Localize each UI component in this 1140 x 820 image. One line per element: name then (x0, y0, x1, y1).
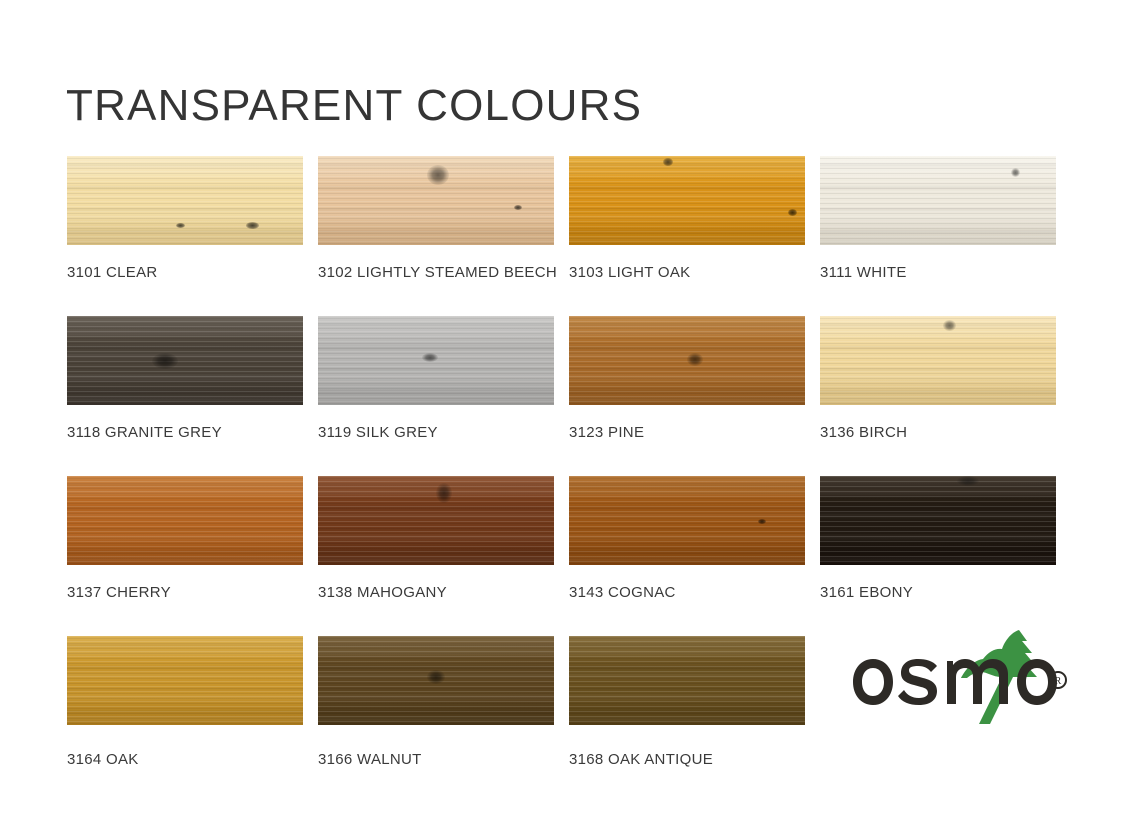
swatch-cell[interactable]: 3143 COGNAC (569, 476, 820, 636)
swatch-cell[interactable]: 3137 CHERRY (67, 476, 318, 636)
swatch-sheen (318, 636, 554, 725)
swatch-sheen (318, 476, 554, 565)
swatch-label: 3164 OAK (67, 751, 303, 768)
swatch-label: 3143 COGNAC (569, 584, 805, 601)
colour-swatch[interactable] (820, 476, 1056, 565)
swatch-sheen (67, 156, 303, 245)
osmo-logo[interactable]: R (851, 628, 1076, 728)
swatch-row: 3118 GRANITE GREY3119 SILK GREY3123 PINE… (67, 316, 1073, 476)
colour-swatch[interactable] (569, 316, 805, 405)
swatch-sheen (67, 476, 303, 565)
page-title: TRANSPARENT COLOURS (66, 81, 642, 131)
colour-swatch[interactable] (318, 476, 554, 565)
swatch-sheen (569, 316, 805, 405)
swatch-cell[interactable]: 3161 EBONY (820, 476, 1071, 636)
swatch-label: 3138 MAHOGANY (318, 584, 554, 601)
swatch-sheen (569, 156, 805, 245)
swatch-row: 3101 CLEAR3102 LIGHTLY STEAMED BEECH3103… (67, 156, 1073, 316)
swatch-label: 3161 EBONY (820, 584, 1056, 601)
osmo-wordmark (853, 659, 1057, 705)
swatch-sheen (820, 316, 1056, 405)
colour-swatch[interactable] (318, 156, 554, 245)
swatch-label: 3123 PINE (569, 424, 805, 441)
swatch-cell[interactable]: 3123 PINE (569, 316, 820, 476)
swatch-cell[interactable]: 3166 WALNUT (318, 636, 569, 796)
swatch-cell[interactable]: 3164 OAK (67, 636, 318, 796)
swatch-sheen (318, 156, 554, 245)
swatch-sheen (569, 636, 805, 725)
swatch-label: 3101 CLEAR (67, 264, 303, 281)
colour-swatch[interactable] (569, 476, 805, 565)
colour-swatch[interactable] (569, 636, 805, 725)
colour-swatch[interactable] (820, 316, 1056, 405)
swatch-cell[interactable]: 3103 LIGHT OAK (569, 156, 820, 316)
swatch-label: 3166 WALNUT (318, 751, 554, 768)
swatch-sheen (67, 636, 303, 725)
swatch-cell[interactable]: 3118 GRANITE GREY (67, 316, 318, 476)
swatch-label: 3102 LIGHTLY STEAMED BEECH (318, 264, 554, 281)
swatch-cell[interactable]: 3136 BIRCH (820, 316, 1071, 476)
swatch-label: 3111 WHITE (820, 264, 1056, 281)
swatch-label: 3137 CHERRY (67, 584, 303, 601)
swatch-cell[interactable]: 3168 OAK ANTIQUE (569, 636, 820, 796)
swatch-sheen (67, 316, 303, 405)
colour-swatch[interactable] (820, 156, 1056, 245)
swatch-label: 3168 OAK ANTIQUE (569, 751, 805, 768)
swatch-label: 3119 SILK GREY (318, 424, 554, 441)
swatch-cell[interactable]: 3138 MAHOGANY (318, 476, 569, 636)
colour-swatch[interactable] (569, 156, 805, 245)
colour-chart-page: TRANSPARENT COLOURS 3101 CLEAR3102 LIGHT… (0, 0, 1140, 820)
swatch-label: 3118 GRANITE GREY (67, 424, 303, 441)
colour-swatch[interactable] (67, 636, 303, 725)
swatch-sheen (318, 316, 554, 405)
swatch-sheen (820, 156, 1056, 245)
svg-text:R: R (1055, 676, 1062, 687)
colour-swatch[interactable] (67, 156, 303, 245)
colour-swatch[interactable] (67, 476, 303, 565)
swatch-label: 3136 BIRCH (820, 424, 1056, 441)
swatch-cell[interactable]: 3101 CLEAR (67, 156, 318, 316)
colour-swatch[interactable] (318, 636, 554, 725)
swatch-sheen (820, 476, 1056, 565)
colour-swatch[interactable] (67, 316, 303, 405)
swatch-sheen (569, 476, 805, 565)
swatch-cell[interactable]: 3111 WHITE (820, 156, 1071, 316)
colour-swatch[interactable] (318, 316, 554, 405)
swatch-cell[interactable]: 3119 SILK GREY (318, 316, 569, 476)
swatch-row: 3137 CHERRY3138 MAHOGANY3143 COGNAC3161 … (67, 476, 1073, 636)
swatch-label: 3103 LIGHT OAK (569, 264, 805, 281)
swatch-cell[interactable]: 3102 LIGHTLY STEAMED BEECH (318, 156, 569, 316)
